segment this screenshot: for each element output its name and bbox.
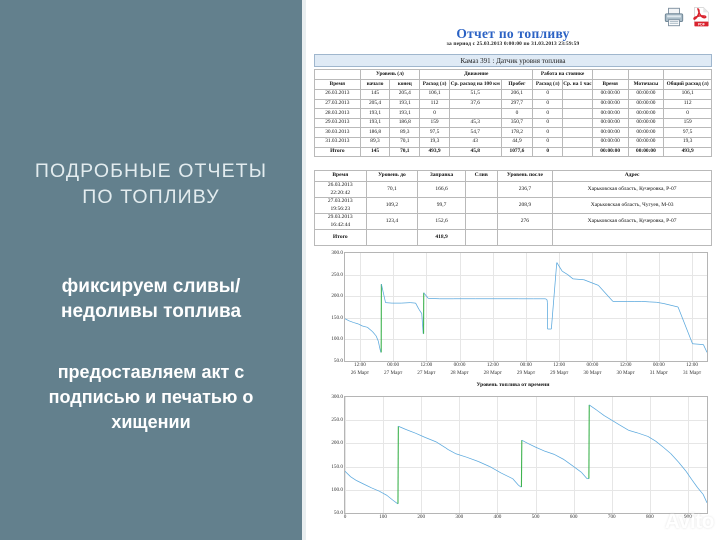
table-cell: 00:00:00: [592, 137, 628, 147]
table-cell: 00:00:00: [592, 109, 628, 119]
table-row: 26.03.201322:20:4270,1166,6236,7Харьковс…: [315, 182, 712, 198]
summary-column-header: Моточасы: [628, 80, 664, 90]
x-axis-tick-label: 00:0028 Март: [450, 362, 468, 377]
fuel-level-segment: [373, 332, 377, 336]
table-cell: 418,9: [418, 230, 466, 246]
summary-column-header: Общий расход (л): [664, 80, 712, 90]
table-cell: 0: [533, 118, 563, 128]
fuel-level-segment: [648, 436, 656, 441]
slide-root: ПОДРОБНЫЕ ОТЧЕТЫ ПО ТОПЛИВУ фиксируем сл…: [0, 0, 720, 540]
table-cell: 54,7: [449, 128, 501, 138]
chart-1-title: Уровень топлива от времени: [314, 382, 712, 388]
fuel-level-segment: [448, 449, 456, 453]
x-axis-tick-label: 12:0026 Март: [351, 362, 369, 377]
fuel-level-segment: [387, 495, 393, 500]
fuel-level-segment: [589, 405, 596, 410]
table-cell: 97,5: [664, 128, 712, 138]
fuel-level-segment: [513, 479, 519, 485]
table-cell: 297,7: [501, 99, 533, 109]
x-axis-tick-label: 200: [417, 514, 425, 522]
table-cell: 70,1: [390, 137, 420, 147]
y-axis-tick-label: 250.0: [331, 417, 343, 423]
table-cell: 205,4: [390, 90, 420, 100]
fuel-level-segment: [564, 460, 574, 467]
table-cell: 0: [533, 137, 563, 147]
fuel-level-segment: [446, 448, 448, 449]
fuel-level-segment: [419, 309, 422, 313]
table-row: 28.03.2013193,1193,100000:00:0000:00:000: [315, 109, 712, 119]
promo-headline: ПОДРОБНЫЕ ОТЧЕТЫ ПО ТОПЛИВУ: [11, 158, 291, 210]
table-cell: 00:00:00: [628, 90, 664, 100]
table-cell: 00:00:00: [628, 137, 664, 147]
refuel-column-header: Время: [315, 171, 367, 182]
table-cell: 178,2: [501, 128, 533, 138]
table-cell: Харьковская область, Кучеровка, Р-07: [553, 182, 712, 198]
fuel-level-segment: [536, 447, 546, 451]
table-cell: 0: [533, 90, 563, 100]
table-cell: 00:00:00: [592, 147, 628, 157]
report-period: за период с 25.03.2013 0:00:00 по 31.03.…: [306, 41, 720, 47]
promo-headline-line-2: ПО ТОПЛИВУ: [11, 184, 291, 210]
summary-table-body: 26.03.2013145205,4106,151,5206,1000:00:0…: [315, 90, 712, 157]
table-cell: [563, 109, 593, 119]
table-cell: 106,1: [420, 90, 450, 100]
summary-group-header: Уровень (л): [360, 70, 420, 80]
table-cell: [465, 198, 497, 214]
avito-watermark: Avito: [665, 510, 714, 534]
table-cell: 106,1: [664, 90, 712, 100]
x-axis-tick-label: 400: [494, 514, 502, 522]
fuel-level-segment: [467, 457, 478, 461]
summary-column-header: Пробег: [501, 80, 533, 90]
table-row: 26.03.2013145205,4106,151,5206,1000:00:0…: [315, 90, 712, 100]
table-cell: 31.03.2013: [315, 137, 361, 147]
fuel-level-segment: [362, 326, 367, 327]
fuel-level-segment: [678, 307, 692, 344]
table-cell: [366, 230, 418, 246]
fuel-level-segment: [656, 441, 664, 447]
table-cell: 0: [533, 147, 563, 157]
table-cell: 493,9: [420, 147, 450, 157]
refuel-table-body: 26.03.201322:20:4270,1166,6236,7Харьковс…: [315, 182, 712, 246]
fuel-level-segment: [629, 430, 639, 433]
fuel-level-segment: [528, 443, 536, 447]
table-cell: 00:00:00: [628, 147, 664, 157]
table-cell: Харьковская область, Кучеровка, Р-07: [553, 214, 712, 230]
fuel-level-segment: [692, 480, 698, 488]
table-cell: 152,6: [418, 214, 466, 230]
refuel-column-header: Уровень до: [366, 171, 418, 182]
fuel-level-segment: [406, 429, 416, 433]
y-axis-tick-label: 200.0: [331, 440, 343, 446]
table-cell: 97,5: [420, 128, 450, 138]
table-cell: 37,6: [449, 99, 501, 109]
x-axis-tick-label: 12:0030 Март: [617, 362, 635, 377]
promo-subtext-1-line-2: недоливы топлива: [17, 299, 285, 324]
table-cell: 00:00:00: [592, 128, 628, 138]
fuel-level-segment: [478, 461, 489, 466]
table-cell: [553, 230, 712, 246]
table-cell: 19,3: [420, 137, 450, 147]
x-axis-tick-label: 00:0030 Март: [583, 362, 601, 377]
table-cell: [563, 128, 593, 138]
fuel-level-segment: [574, 467, 582, 473]
table-row: 29.03.201316:42:44123,4152,6276Харьковск…: [315, 214, 712, 230]
refuel-table: ВремяУровень доЗаправкаСливУровень после…: [314, 170, 712, 246]
refuel-column-header: Заправка: [418, 171, 466, 182]
fuel-level-segment: [351, 477, 357, 481]
table-cell: 19,3: [664, 137, 712, 147]
fuel-level-segment: [425, 437, 436, 442]
summary-column-header: Расход (л): [420, 80, 450, 90]
fuel-level-segment: [703, 494, 707, 502]
table-cell: 00:00:00: [592, 99, 628, 109]
summary-table-head: Уровень (л)ДвижениеРабота на стоянке Вре…: [315, 70, 712, 90]
table-cell: Итого: [315, 147, 361, 157]
table-cell: 166,6: [418, 182, 466, 198]
x-axis-tick-label: 800: [646, 514, 654, 522]
table-cell: 70,1: [390, 147, 420, 157]
table-cell: [465, 182, 497, 198]
promo-subtext-2-line-1: предоставляем акт с: [11, 360, 291, 385]
fuel-level-segment: [381, 284, 385, 303]
fuel-report: PDF Отчет по топливу за период с 25.03.2…: [306, 0, 720, 540]
fuel-level-segment: [551, 263, 556, 330]
table-cell: Харьковская область, Чугуев, М-03: [553, 198, 712, 214]
fuel-level-segment: [356, 481, 364, 485]
table-cell: 30.03.2013: [315, 128, 361, 138]
y-axis-tick-label: 250.0: [331, 272, 343, 278]
fuel-level-segment: [663, 447, 671, 453]
summary-column-header: Время: [592, 80, 628, 90]
y-axis-tick-label: 50.0: [334, 358, 343, 364]
refuel-column-header: Адрес: [553, 171, 712, 182]
summary-group-header: [628, 70, 664, 80]
table-cell: 112: [664, 99, 712, 109]
fuel-level-segment: [518, 485, 521, 487]
summary-column-header: Ср. на 1 час: [563, 80, 593, 90]
chart-plot-area: 50.0100.0150.0200.0250.0300.001002003004…: [344, 396, 708, 514]
table-cell: [465, 214, 497, 230]
fuel-level-segment: [557, 263, 562, 272]
table-cell: 29.03.2013: [315, 118, 361, 128]
fuel-level-segment: [693, 344, 704, 345]
x-axis-tick-label: 700: [608, 514, 616, 522]
table-cell: 145: [360, 90, 390, 100]
fuel-level-segment: [456, 454, 467, 458]
fuel-level-segment: [612, 420, 620, 425]
fuel-level-segment: [354, 323, 358, 324]
table-row: 27.03.2013205,4193,111237,6297,7000:00:0…: [315, 99, 712, 109]
table-cell: 112: [420, 99, 450, 109]
fuel-level-segment: [379, 491, 387, 495]
table-cell: 0: [533, 109, 563, 119]
table-cell: 159: [664, 118, 712, 128]
table-cell: 193,1: [360, 109, 390, 119]
fuel-level-segment: [573, 279, 584, 280]
table-cell: 89,3: [360, 137, 390, 147]
table-cell: 236,7: [497, 182, 553, 198]
table-cell: 145: [360, 147, 390, 157]
fuel-level-segment: [546, 299, 547, 300]
x-axis-tick-label: 00:0031 Март: [650, 362, 668, 377]
table-cell: 205,4: [360, 99, 390, 109]
x-axis-tick-label: 0: [344, 514, 347, 522]
pdf-icon[interactable]: PDF: [690, 6, 712, 28]
table-row: 31.03.201389,370,119,34344,9000:00:0000:…: [315, 137, 712, 147]
fuel-level-segment: [703, 345, 707, 353]
table-cell: 0: [501, 109, 533, 119]
table-cell: 26.03.2013: [315, 90, 361, 100]
table-cell: [465, 230, 497, 246]
table-cell: 45,8: [449, 147, 501, 157]
refuel-column-header-row: ВремяУровень доЗаправкаСливУровень после…: [315, 171, 712, 182]
table-cell: 186,8: [390, 118, 420, 128]
fuel-level-segment: [415, 433, 425, 437]
summary-table: Уровень (л)ДвижениеРабота на стоянке Вре…: [314, 69, 712, 157]
fuel-level-segment: [490, 467, 501, 473]
fuel-level-segment: [697, 487, 703, 494]
fuel-level-segment: [345, 319, 349, 321]
y-axis-tick-label: 150.0: [331, 315, 343, 321]
table-cell: 43: [449, 137, 501, 147]
summary-column-header: начало: [360, 80, 390, 90]
refuel-column-header: Уровень после: [497, 171, 553, 182]
y-axis-tick-label: 300.0: [331, 394, 343, 400]
table-cell: 00:00:00: [628, 99, 664, 109]
table-cell: 99,7: [418, 198, 466, 214]
table-cell: 27.03.2013: [315, 99, 361, 109]
table-cell: 0: [533, 128, 563, 138]
summary-column-header: конец: [390, 80, 420, 90]
table-cell: 0: [664, 109, 712, 119]
x-axis-tick-label: 100: [379, 514, 387, 522]
table-cell: 89,3: [390, 128, 420, 138]
table-cell: 350,7: [501, 118, 533, 128]
table-row: Итого14570,1493,945,81077,6000:00:0000:0…: [315, 147, 712, 157]
fuel-level-segment: [378, 341, 379, 348]
fuel-level-segment: [562, 271, 567, 274]
fuel-level-segment: [416, 303, 419, 309]
table-cell: 70,1: [366, 182, 418, 198]
y-axis-tick-label: 300.0: [331, 250, 343, 256]
table-row: 29.03.2013193,1186,815945,3350,7000:00:0…: [315, 118, 712, 128]
x-axis-tick-label: 00:0029 Март: [517, 362, 535, 377]
fuel-level-segment: [686, 471, 692, 479]
x-axis-tick-label: 12:0027 Март: [417, 362, 435, 377]
table-cell: [563, 118, 593, 128]
fuel-level-segment: [349, 321, 354, 323]
table-cell: [449, 109, 501, 119]
fuel-level-segment: [436, 442, 446, 448]
table-row: 27.03.201319:56:23109,299,7208,9Харьковс…: [315, 198, 712, 214]
summary-group-header: [315, 70, 361, 80]
table-cell: [563, 90, 593, 100]
fuel-level-segment: [581, 472, 587, 478]
refuel-table-head: ВремяУровень доЗаправкаСливУровень после…: [315, 171, 712, 182]
table-cell: 00:00:00: [628, 128, 664, 138]
chart-series: [345, 253, 707, 361]
report-title: Отчет по топливу: [306, 26, 720, 42]
table-cell: 193,1: [360, 118, 390, 128]
fuel-level-segment: [358, 324, 362, 326]
summary-column-header-row: ВремяначалоконецРасход (л)Ср. расход на …: [315, 80, 712, 90]
table-cell: 159: [420, 118, 450, 128]
table-cell: 193,1: [390, 99, 420, 109]
fuel-level-segment: [596, 410, 604, 416]
table-cell: 186,8: [360, 128, 390, 138]
y-axis-tick-label: 50.0: [334, 510, 343, 516]
x-axis-tick-label: 12:0029 Март: [550, 362, 568, 377]
y-axis-tick-label: 150.0: [331, 464, 343, 470]
table-cell: 27.03.201319:56:23: [315, 198, 367, 214]
fuel-level-segment: [422, 313, 423, 333]
table-row: Итого418,9: [315, 230, 712, 246]
table-cell: 0: [533, 99, 563, 109]
fuel-level-segment: [619, 425, 629, 431]
x-axis-tick-label: 600: [570, 514, 578, 522]
table-cell: 193,1: [390, 109, 420, 119]
table-cell: [563, 147, 593, 157]
promo-subtext-2-line-3: хищении: [11, 410, 291, 435]
summary-column-header: Расход (л): [533, 80, 563, 90]
chart-plot-area: 50.0100.0150.0200.0250.0300.012:0026 Мар…: [344, 252, 708, 362]
summary-column-header: Время: [315, 80, 361, 90]
table-cell: 45,3: [449, 118, 501, 128]
summary-group-header: Движение: [420, 70, 533, 80]
table-cell: 208,9: [497, 198, 553, 214]
table-cell: 00:00:00: [592, 90, 628, 100]
table-cell: 44,9: [501, 137, 533, 147]
table-cell: [497, 230, 553, 246]
fuel-level-segment: [367, 327, 372, 331]
fuel-level-segment: [364, 484, 372, 488]
summary-group-header: Работа на стоянке: [533, 70, 593, 80]
fuel-level-time-chart: Уровень топлива от времени 50.0100.0150.…: [314, 248, 712, 388]
table-cell: [563, 137, 593, 147]
x-axis-tick-label: 12:0031 Март: [683, 362, 701, 377]
x-axis-tick-label: 12:0028 Март: [484, 362, 502, 377]
table-row: 30.03.2013186,889,397,554,7178,2000:00:0…: [315, 128, 712, 138]
table-cell: 109,2: [366, 198, 418, 214]
table-cell: 28.03.2013: [315, 109, 361, 119]
y-axis-tick-label: 200.0: [331, 293, 343, 299]
fuel-level-segment: [656, 302, 663, 303]
promo-subtext-2: предоставляем акт с подписью и печатью о…: [11, 360, 291, 435]
fuel-level-segment: [345, 471, 351, 477]
table-cell: 1077,6: [501, 147, 533, 157]
summary-group-header: [664, 70, 712, 80]
promo-panel: ПОДРОБНЫЕ ОТЧЕТЫ ПО ТОПЛИВУ фиксируем сл…: [0, 0, 302, 540]
fuel-level-segment: [638, 433, 648, 436]
summary-group-header: [592, 70, 628, 80]
fuel-level-segment: [376, 336, 378, 341]
report-toolbar: PDF: [663, 6, 712, 28]
table-cell: 206,1: [501, 90, 533, 100]
fuel-level-segment: [424, 293, 429, 299]
table-cell: 51,5: [449, 90, 501, 100]
x-axis-tick-label: 300: [455, 514, 463, 522]
report-object-band: Камаз 391 : Датчик уровня топлива: [314, 54, 712, 67]
table-cell: 26.03.201322:20:42: [315, 182, 367, 198]
fuel-level-segment: [604, 416, 612, 421]
table-cell: 00:00:00: [628, 118, 664, 128]
fuel-level-index-chart: 50.0100.0150.0200.0250.0300.001002003004…: [314, 392, 712, 532]
table-cell: 00:00:00: [592, 118, 628, 128]
y-axis-tick-label: 100.0: [331, 336, 343, 342]
fuel-level-segment: [398, 426, 406, 429]
printer-icon[interactable]: [663, 6, 685, 28]
y-axis-tick-label: 100.0: [331, 487, 343, 493]
x-axis-tick-label: 00:0027 Март: [384, 362, 402, 377]
fuel-level-segment: [545, 451, 555, 454]
promo-headline-line-1: ПОДРОБНЫЕ ОТЧЕТЫ: [11, 158, 291, 184]
table-cell: Итого: [315, 230, 367, 246]
table-cell: 0: [420, 109, 450, 119]
table-cell: 493,9: [664, 147, 712, 157]
fuel-level-segment: [584, 280, 598, 286]
table-cell: 29.03.201316:42:44: [315, 214, 367, 230]
fuel-level-segment: [393, 500, 398, 504]
table-cell: 00:00:00: [628, 109, 664, 119]
fuel-level-segment: [555, 455, 565, 460]
fuel-level-segment: [568, 275, 573, 279]
refuel-column-header: Слив: [465, 171, 497, 182]
chart-series: [345, 397, 707, 513]
promo-subtext-1: фиксируем сливы/ недоливы топлива: [17, 274, 285, 324]
table-cell: 123,4: [366, 214, 418, 230]
fuel-level-segment: [664, 304, 678, 307]
fuel-level-segment: [678, 462, 686, 471]
fuel-level-segment: [522, 440, 528, 443]
fuel-level-segment: [372, 488, 380, 491]
summary-group-header-row: Уровень (л)ДвижениеРабота на стоянке: [315, 70, 712, 80]
fuel-level-segment: [671, 454, 679, 462]
summary-column-header: Ср. расход на 100 км: [449, 80, 501, 90]
fuel-level-segment: [598, 285, 612, 301]
fuel-level-segment: [501, 473, 512, 479]
promo-subtext-1-line-1: фиксируем сливы/: [17, 274, 285, 299]
promo-subtext-2-line-2: подписью и печатью о: [11, 385, 291, 410]
table-cell: [563, 99, 593, 109]
x-axis-tick-label: 500: [532, 514, 540, 522]
table-cell: 276: [497, 214, 553, 230]
